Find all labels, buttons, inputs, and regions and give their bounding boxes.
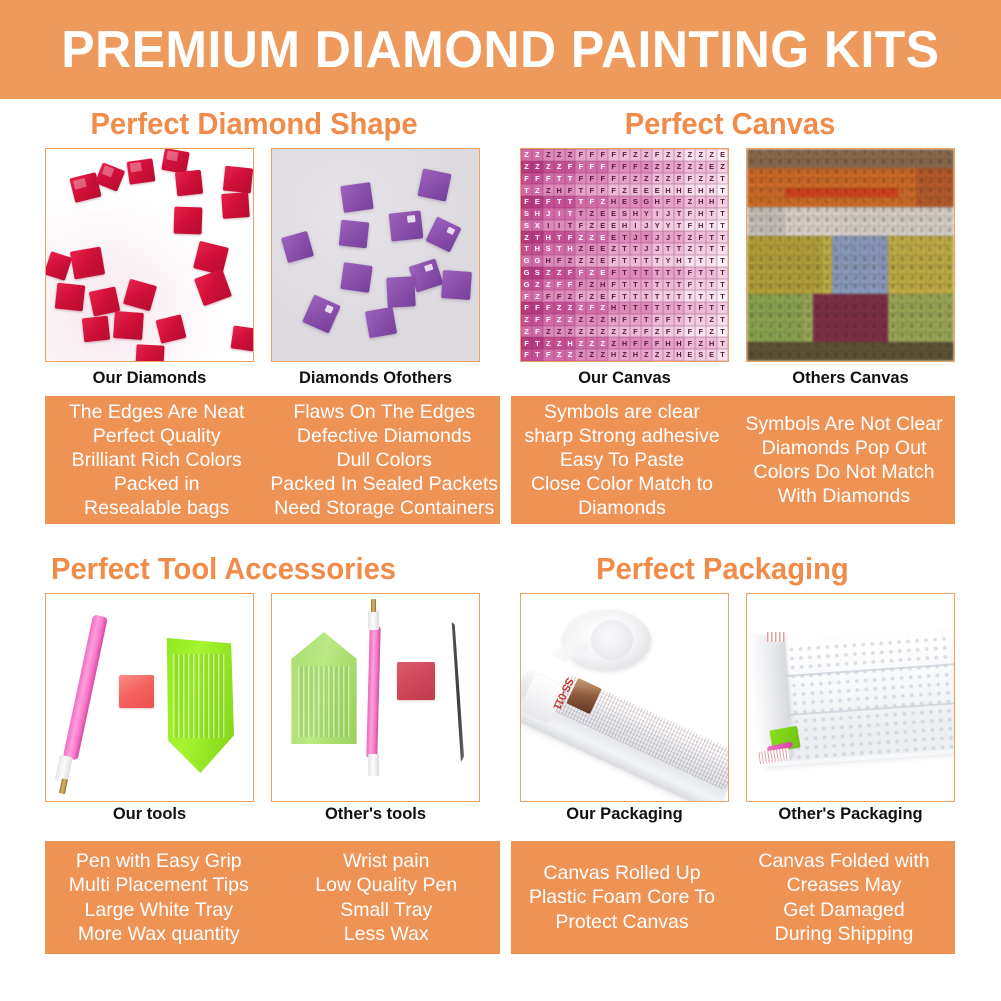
canvas-symbol-cell: F bbox=[608, 279, 619, 291]
canvas-symbol-cell: T bbox=[619, 243, 630, 255]
canvas-symbol-cell: F bbox=[586, 196, 597, 208]
blurry-symbol-cell: 2 bbox=[907, 159, 916, 169]
comparison-ours-tools: Pen with Easy Grip Multi Placement Tips … bbox=[45, 841, 273, 954]
blurry-symbol-cell: 4 bbox=[813, 322, 822, 332]
canvas-symbol-cell: Z bbox=[554, 302, 565, 314]
blurry-symbol-cell: J bbox=[869, 274, 878, 284]
canvas-symbol-cell: Y bbox=[652, 220, 663, 232]
canvas-symbol-cell: Z bbox=[543, 267, 554, 279]
pen-metal-tip bbox=[371, 599, 376, 612]
blurry-symbol-cell: S bbox=[766, 351, 775, 361]
blurry-symbol-cell: 1 bbox=[766, 188, 775, 198]
canvas-symbol-cell: T bbox=[684, 314, 695, 326]
canvas-symbol-cell: Z bbox=[586, 231, 597, 243]
canvas-symbol-cell: Z bbox=[597, 314, 608, 326]
canvas-symbol-cell: Z bbox=[543, 279, 554, 291]
blurry-symbol-cell: 1 bbox=[832, 236, 841, 246]
blurry-symbol-cell: L bbox=[860, 197, 869, 207]
blurry-symbol-cell: 9 bbox=[898, 313, 907, 323]
blurry-symbol-cell: V bbox=[803, 265, 812, 275]
blurry-symbol-cell: 1 bbox=[822, 284, 831, 294]
blurry-symbol-cell: V bbox=[841, 265, 850, 275]
canvas-symbol-cell: T bbox=[532, 349, 543, 361]
canvas-symbol-cell: F bbox=[684, 337, 695, 349]
ours-line: sharp Strong adhesive bbox=[524, 424, 719, 448]
ours-line: Perfect Quality bbox=[93, 424, 221, 448]
blurry-symbol-cell: J bbox=[926, 274, 935, 284]
blurry-symbol-cell: V bbox=[747, 265, 756, 275]
blurry-symbol-cell: 2 bbox=[926, 351, 935, 361]
canvas-symbol-cell: T bbox=[641, 290, 652, 302]
blurry-symbol-cell: 9 bbox=[785, 216, 794, 226]
comparison-others-tools: Wrist pain Low Quality Pen Small Tray Le… bbox=[273, 841, 501, 954]
blurry-symbol-cell: 2 bbox=[851, 351, 860, 361]
blurry-symbol-cell: S bbox=[888, 207, 897, 217]
canvas-symbol-cell: T bbox=[717, 267, 728, 279]
blurry-symbol-cell: 9 bbox=[794, 168, 803, 178]
canvas-symbol-cell: F bbox=[608, 267, 619, 279]
canvas-symbol-cell: H bbox=[652, 196, 663, 208]
blurry-symbol-cell: 4 bbox=[832, 226, 841, 236]
blurry-symbol-cell: L bbox=[926, 342, 935, 352]
canvas-symbol-cell: G bbox=[521, 267, 532, 279]
canvas-symbol-cell: I bbox=[543, 220, 554, 232]
canvas-symbol-cell: T bbox=[684, 302, 695, 314]
blurry-symbol-cell: J bbox=[822, 226, 831, 236]
canvas-symbol-cell: Z bbox=[543, 161, 554, 173]
canvas-symbol-cell: H bbox=[543, 231, 554, 243]
blurry-symbol-cell: L bbox=[822, 294, 831, 304]
blurry-symbol-cell: Y bbox=[851, 188, 860, 198]
canvas-symbol-cell: T bbox=[619, 290, 630, 302]
canvas-symbol-cell: Z bbox=[641, 173, 652, 185]
canvas-symbol-cell: F bbox=[695, 231, 706, 243]
blurry-symbol-cell: 2 bbox=[945, 255, 954, 265]
blurry-symbol-cell: S bbox=[935, 159, 944, 169]
canvas-symbol-cell: F bbox=[619, 173, 630, 185]
blurry-symbol-cell: 1 bbox=[756, 236, 765, 246]
canvas-symbol-cell: Z bbox=[565, 326, 576, 338]
blurry-symbol-cell: 2 bbox=[775, 255, 784, 265]
canvas-symbol-cell: E bbox=[706, 161, 717, 173]
ours-line: Canvas Rolled Up bbox=[543, 861, 700, 885]
canvas-symbol-cell: T bbox=[641, 314, 652, 326]
blurry-symbol-cell: 1 bbox=[813, 236, 822, 246]
blurry-symbol-cell: S bbox=[869, 303, 878, 313]
mailer-tab-marks bbox=[767, 632, 785, 642]
blurry-symbol-cell: J bbox=[747, 226, 756, 236]
blurry-symbol-cell: 7 bbox=[822, 245, 831, 255]
blurry-symbol-cell: 1 bbox=[860, 188, 869, 198]
blurry-symbol-cell: 2 bbox=[841, 303, 850, 313]
blurry-symbol-cell: L bbox=[756, 245, 765, 255]
blurry-symbol-cell: Y bbox=[916, 332, 925, 342]
ours-line: Large White Tray bbox=[85, 898, 233, 922]
blurry-symbol-cell: S bbox=[916, 159, 925, 169]
blurry-symbol-cell: 1 bbox=[879, 188, 888, 198]
blurry-symbol-cell: 4 bbox=[926, 226, 935, 236]
blurry-symbol-cell: 1 bbox=[794, 332, 803, 342]
blurry-symbol-cell: L bbox=[794, 245, 803, 255]
blurry-symbol-cell: L bbox=[803, 294, 812, 304]
blurry-symbol-cell: 4 bbox=[803, 178, 812, 188]
canvas-symbol-cell: T bbox=[554, 231, 565, 243]
canvas-symbol-cell: F bbox=[608, 149, 619, 161]
canvas-symbol-cell: T bbox=[663, 290, 674, 302]
blurry-symbol-cell: 7 bbox=[785, 149, 794, 159]
blurry-symbol-cell: L bbox=[907, 342, 916, 352]
blurry-symbol-cell: 2 bbox=[803, 207, 812, 217]
comparison-block-packaging: Canvas Rolled Up Plastic Foam Core To Pr… bbox=[511, 841, 955, 954]
canvas-symbol-cell: Z bbox=[543, 337, 554, 349]
blurry-symbol-cell: S bbox=[822, 159, 831, 169]
blurry-symbol-cell: J bbox=[916, 322, 925, 332]
canvas-symbol-cell: F bbox=[641, 337, 652, 349]
blurry-symbol-cell: J bbox=[898, 322, 907, 332]
canvas-symbol-cell: Z bbox=[532, 279, 543, 291]
canvas-symbol-cell: F bbox=[575, 161, 586, 173]
canvas-symbol-cell: Z bbox=[663, 161, 674, 173]
canvas-symbol-cell: T bbox=[652, 267, 663, 279]
others-line: Creases May bbox=[787, 873, 902, 897]
canvas-symbol-cell: T bbox=[630, 243, 641, 255]
canvas-symbol-cell: H bbox=[608, 349, 619, 361]
canvas-symbol-cell: E bbox=[684, 184, 695, 196]
canvas-symbol-cell: Z bbox=[575, 231, 586, 243]
canvas-symbol-cell: F bbox=[619, 149, 630, 161]
blurry-symbol-cell: 9 bbox=[813, 265, 822, 275]
canvas-symbol-cell: F bbox=[521, 302, 532, 314]
canvas-symbol-cell: T bbox=[630, 267, 641, 279]
ours-line: More Wax quantity bbox=[78, 922, 240, 946]
blurry-symbol-cell: Y bbox=[775, 188, 784, 198]
canvas-symbol-cell: T bbox=[695, 314, 706, 326]
canvas-symbol-cell: Z bbox=[586, 220, 597, 232]
blurry-symbol-cell: L bbox=[898, 197, 907, 207]
others-line: Low Quality Pen bbox=[315, 873, 457, 897]
blurry-symbol-cell: 1 bbox=[916, 188, 925, 198]
blurry-symbol-cell: 9 bbox=[907, 265, 916, 275]
canvas-symbol-cell: S bbox=[521, 220, 532, 232]
section-title-diamond-shape: Perfect Diamond Shape bbox=[90, 108, 417, 139]
canvas-symbol-cell: E bbox=[586, 243, 597, 255]
blurry-symbol-cell: 7 bbox=[879, 245, 888, 255]
canvas-symbol-cell: F bbox=[619, 314, 630, 326]
canvas-symbol-cell: F bbox=[608, 161, 619, 173]
blurry-symbol-cell: L bbox=[926, 245, 935, 255]
canvas-symbol-cell: F bbox=[608, 290, 619, 302]
canvas-symbol-cell: F bbox=[641, 326, 652, 338]
blurry-symbol-cell: S bbox=[822, 255, 831, 265]
blurry-symbol-cell: V bbox=[832, 313, 841, 323]
canvas-symbol-cell: Z bbox=[586, 349, 597, 361]
blurry-symbol-cell: J bbox=[822, 322, 831, 332]
blurry-symbol-cell: Y bbox=[756, 188, 765, 198]
canvas-symbol-cell: T bbox=[717, 302, 728, 314]
canvas-symbol-cell: Z bbox=[641, 349, 652, 361]
blurry-symbol-cell: V bbox=[747, 168, 756, 178]
blurry-symbol-cell: J bbox=[898, 226, 907, 236]
our-packaging-photo: SS-011 bbox=[521, 594, 728, 801]
blurry-symbol-cell: 2 bbox=[775, 159, 784, 169]
blurry-symbol-cell: 7 bbox=[813, 197, 822, 207]
panel-others-canvas: 7L7L7L7L7L7L7L7L7L7L7LS2S2S2S2S2S2S2S2S2… bbox=[746, 148, 955, 362]
blurry-symbol-cell: S bbox=[945, 303, 954, 313]
blurry-symbol-cell: 7 bbox=[860, 245, 869, 255]
blurry-symbol-cell: 2 bbox=[898, 303, 907, 313]
canvas-symbol-cell: J bbox=[663, 231, 674, 243]
blurry-symbol-cell: V bbox=[860, 168, 869, 178]
blurry-symbol-cell: J bbox=[775, 274, 784, 284]
blurry-symbol-cell: V bbox=[945, 313, 954, 323]
others-packaging-photo bbox=[747, 594, 954, 801]
canvas-symbol-cell: F bbox=[695, 326, 706, 338]
canvas-symbol-cell: T bbox=[695, 290, 706, 302]
canvas-symbol-cell: T bbox=[630, 290, 641, 302]
blurry-symbol-cell: 1 bbox=[756, 332, 765, 342]
blurry-symbol-cell: V bbox=[879, 168, 888, 178]
canvas-symbol-cell: F bbox=[575, 290, 586, 302]
blurry-symbol-cell: V bbox=[813, 313, 822, 323]
canvas-symbol-cell: Z bbox=[684, 231, 695, 243]
blurry-symbol-cell: S bbox=[756, 207, 765, 217]
blurry-symbol-cell: 2 bbox=[794, 159, 803, 169]
blurry-symbol-cell: 1 bbox=[879, 284, 888, 294]
canvas-symbol-cell: T bbox=[641, 231, 652, 243]
canvas-symbol-cell: H bbox=[674, 184, 685, 196]
canvas-symbol-cell: Z bbox=[575, 314, 586, 326]
canvas-symbol-cell: T bbox=[652, 302, 663, 314]
canvas-symbol-cell: F bbox=[586, 161, 597, 173]
blurry-symbol-cell: L bbox=[813, 342, 822, 352]
canvas-symbol-cell: Z bbox=[684, 149, 695, 161]
blurry-symbol-cell: 7 bbox=[851, 197, 860, 207]
blurry-symbol-cell: S bbox=[860, 255, 869, 265]
blurry-symbol-cell: Y bbox=[860, 236, 869, 246]
blurry-symbol-cell: S bbox=[794, 303, 803, 313]
blurry-symbol-cell: 4 bbox=[926, 322, 935, 332]
others-line: Need Storage Containers bbox=[274, 496, 494, 520]
blurry-symbol-cell: Y bbox=[907, 188, 916, 198]
canvas-symbol-cell: F bbox=[619, 161, 630, 173]
blurry-symbol-cell: 4 bbox=[832, 322, 841, 332]
canvas-symbol-cell: T bbox=[706, 208, 717, 220]
canvas-symbol-cell: H bbox=[663, 184, 674, 196]
canvas-symbol-cell: H bbox=[695, 196, 706, 208]
blurry-symbol-cell: 2 bbox=[926, 159, 935, 169]
canvas-symbol-cell: T bbox=[532, 231, 543, 243]
ours-line: Resealable bags bbox=[84, 496, 229, 520]
canvas-symbol-cell: H bbox=[597, 279, 608, 291]
canvas-symbol-cell: T bbox=[674, 302, 685, 314]
canvas-symbol-cell: T bbox=[674, 267, 685, 279]
blurry-symbol-cell: 1 bbox=[822, 188, 831, 198]
blurry-symbol-cell: 9 bbox=[747, 313, 756, 323]
blurry-symbol-cell: V bbox=[879, 265, 888, 275]
blurry-symbol-cell: 9 bbox=[879, 313, 888, 323]
canvas-symbol-cell: Z bbox=[674, 149, 685, 161]
blurry-symbol-cell: L bbox=[832, 149, 841, 159]
canvas-symbol-cell: T bbox=[674, 314, 685, 326]
canvas-symbol-cell: T bbox=[717, 208, 728, 220]
canvas-symbol-cell: T bbox=[554, 173, 565, 185]
canvas-symbol-cell: F bbox=[630, 314, 641, 326]
blurry-symbol-cell: 1 bbox=[945, 236, 954, 246]
blurry-symbol-cell: J bbox=[851, 178, 860, 188]
canvas-symbol-cell: Z bbox=[586, 279, 597, 291]
blurry-symbol-cell: 9 bbox=[935, 216, 944, 226]
blurry-symbol-cell: 9 bbox=[907, 168, 916, 178]
wax-square bbox=[119, 675, 154, 708]
blurry-symbol-cell: 2 bbox=[794, 351, 803, 361]
blurry-symbol-cell: 7 bbox=[879, 342, 888, 352]
canvas-symbol-cell: T bbox=[575, 196, 586, 208]
canvas-symbol-cell: F bbox=[630, 326, 641, 338]
canvas-symbol-cell: H bbox=[706, 337, 717, 349]
blurry-symbol-cell: 4 bbox=[860, 178, 869, 188]
blurry-symbol-cell: 7 bbox=[832, 294, 841, 304]
canvas-symbol-cell: Z bbox=[575, 326, 586, 338]
blurry-symbol-cell: 2 bbox=[907, 351, 916, 361]
canvas-symbol-cell: T bbox=[521, 243, 532, 255]
blurry-symbol-cell: 1 bbox=[766, 284, 775, 294]
blurry-symbol-cell: 1 bbox=[775, 332, 784, 342]
blurry-symbol-cell: 1 bbox=[794, 236, 803, 246]
blurry-symbol-cell: 2 bbox=[813, 159, 822, 169]
blurry-symbol-cell: V bbox=[945, 216, 954, 226]
canvas-symbol-cell: T bbox=[663, 302, 674, 314]
blurry-symbol-cell: 7 bbox=[888, 197, 897, 207]
blurry-symbol-cell: 1 bbox=[803, 188, 812, 198]
blurry-symbol-cell: 1 bbox=[785, 284, 794, 294]
canvas-symbol-cell: F bbox=[586, 173, 597, 185]
blurry-symbol-cell: 4 bbox=[766, 178, 775, 188]
pen-cap-end bbox=[368, 754, 379, 776]
blurry-symbol-cell: 2 bbox=[785, 303, 794, 313]
blurry-symbol-cell: 7 bbox=[935, 342, 944, 352]
blurry-symbol-cell: V bbox=[851, 216, 860, 226]
canvas-symbol-cell: Z bbox=[565, 349, 576, 361]
blurry-symbol-cell: V bbox=[766, 265, 775, 275]
blurry-symbol-cell: 1 bbox=[803, 284, 812, 294]
blurry-symbol-cell: S bbox=[935, 255, 944, 265]
canvas-symbol-cell: H bbox=[554, 184, 565, 196]
blurry-symbol-cell: 1 bbox=[841, 284, 850, 294]
blurry-symbol-cell: 7 bbox=[926, 197, 935, 207]
canvas-symbol-cell: T bbox=[717, 184, 728, 196]
blurry-symbol-cell: L bbox=[898, 294, 907, 304]
comparison-ours-diamond-shape: The Edges Are Neat Perfect Quality Brill… bbox=[45, 396, 268, 524]
canvas-symbol-cell: T bbox=[706, 243, 717, 255]
ours-line: Pen with Easy Grip bbox=[76, 849, 242, 873]
blurry-symbol-cell: L bbox=[803, 197, 812, 207]
canvas-symbol-cell: H bbox=[630, 349, 641, 361]
blurry-symbol-cell: 1 bbox=[747, 188, 756, 198]
blurry-symbol-cell: 2 bbox=[879, 207, 888, 217]
blurry-symbol-cell: S bbox=[879, 159, 888, 169]
canvas-symbol-cell: F bbox=[543, 314, 554, 326]
blurry-symbol-cell: S bbox=[785, 351, 794, 361]
blurry-symbol-cell: Y bbox=[794, 188, 803, 198]
canvas-symbol-cell: T bbox=[695, 243, 706, 255]
blurry-symbol-cell: 2 bbox=[945, 351, 954, 361]
blurry-symbol-cell: J bbox=[803, 322, 812, 332]
canvas-symbol-cell: T bbox=[684, 290, 695, 302]
blurry-symbol-cell: 7 bbox=[803, 245, 812, 255]
blurry-symbol-cell: 1 bbox=[898, 284, 907, 294]
blurry-symbol-cell: 7 bbox=[935, 149, 944, 159]
others-line: Wrist pain bbox=[343, 849, 429, 873]
canvas-symbol-cell: F bbox=[521, 337, 532, 349]
blurry-symbol-cell: 7 bbox=[813, 294, 822, 304]
blurry-symbol-cell: L bbox=[756, 342, 765, 352]
blurry-symbol-cell: 9 bbox=[888, 168, 897, 178]
ours-line: Multi Placement Tips bbox=[69, 873, 249, 897]
blurry-symbol-cell: J bbox=[907, 178, 916, 188]
blurry-symbol-cell: 7 bbox=[898, 342, 907, 352]
canvas-symbol-cell: F bbox=[608, 184, 619, 196]
canvas-symbol-cell: Z bbox=[608, 337, 619, 349]
blurry-symbol-cell: 4 bbox=[851, 226, 860, 236]
blurry-symbol-cell: 7 bbox=[869, 197, 878, 207]
canvas-symbol-cell: E bbox=[597, 231, 608, 243]
section-title-tools: Perfect Tool Accessories bbox=[51, 553, 396, 584]
canvas-symbol-cell: Z bbox=[706, 314, 717, 326]
blurry-symbol-cell: Y bbox=[832, 284, 841, 294]
blurry-symbol-cell: J bbox=[869, 178, 878, 188]
canvas-symbol-cell: E bbox=[597, 267, 608, 279]
canvas-symbol-cell: F bbox=[674, 196, 685, 208]
blurry-symbol-cell: 7 bbox=[851, 294, 860, 304]
blurry-symbol-cell: J bbox=[907, 274, 916, 284]
canvas-symbol-cell: T bbox=[674, 279, 685, 291]
canvas-symbol-cell: F bbox=[565, 267, 576, 279]
canvas-symbol-cell: Z bbox=[575, 349, 586, 361]
blurry-symbol-cell: V bbox=[860, 265, 869, 275]
canvas-symbol-cell: F bbox=[597, 173, 608, 185]
comparison-block-tools: Pen with Easy Grip Multi Placement Tips … bbox=[45, 841, 500, 954]
comparison-block-canvas: Symbols are clear sharp Strong adhesive … bbox=[511, 396, 955, 524]
blurry-symbol-cell: 7 bbox=[803, 342, 812, 352]
canvas-symbol-cell: E bbox=[652, 184, 663, 196]
canvas-symbol-cell: Z bbox=[532, 184, 543, 196]
blurry-symbol-cell: S bbox=[747, 255, 756, 265]
canvas-symbol-cell: F bbox=[597, 184, 608, 196]
blurry-symbol-cell: Y bbox=[813, 284, 822, 294]
canvas-symbol-cell: F bbox=[532, 173, 543, 185]
canvas-symbol-cell: Z bbox=[543, 149, 554, 161]
pink-pen bbox=[366, 626, 380, 758]
blurry-symbol-cell: 4 bbox=[888, 322, 897, 332]
canvas-symbol-cell: Z bbox=[630, 173, 641, 185]
caption-others-tools: Other's tools bbox=[271, 806, 480, 823]
blurry-symbol-cell: L bbox=[785, 197, 794, 207]
canvas-symbol-cell: J bbox=[652, 231, 663, 243]
blurry-symbol-cell: 2 bbox=[756, 255, 765, 265]
blurry-symbol-cell: J bbox=[879, 226, 888, 236]
canvas-symbol-cell: F bbox=[575, 173, 586, 185]
blurry-symbol-cell: 2 bbox=[907, 255, 916, 265]
comparison-others-canvas: Symbols Are Not Clear Diamonds Pop Out C… bbox=[733, 396, 955, 524]
blurry-symbol-cell: 2 bbox=[926, 255, 935, 265]
canvas-symbol-cell: T bbox=[706, 267, 717, 279]
panel-others-diamonds bbox=[271, 148, 480, 362]
blurry-symbol-cell: 9 bbox=[785, 313, 794, 323]
blurry-symbol-cell: 4 bbox=[916, 178, 925, 188]
blurry-symbol-cell: L bbox=[766, 294, 775, 304]
blurry-symbol-cell: L bbox=[879, 294, 888, 304]
blurry-symbol-cell: L bbox=[794, 149, 803, 159]
